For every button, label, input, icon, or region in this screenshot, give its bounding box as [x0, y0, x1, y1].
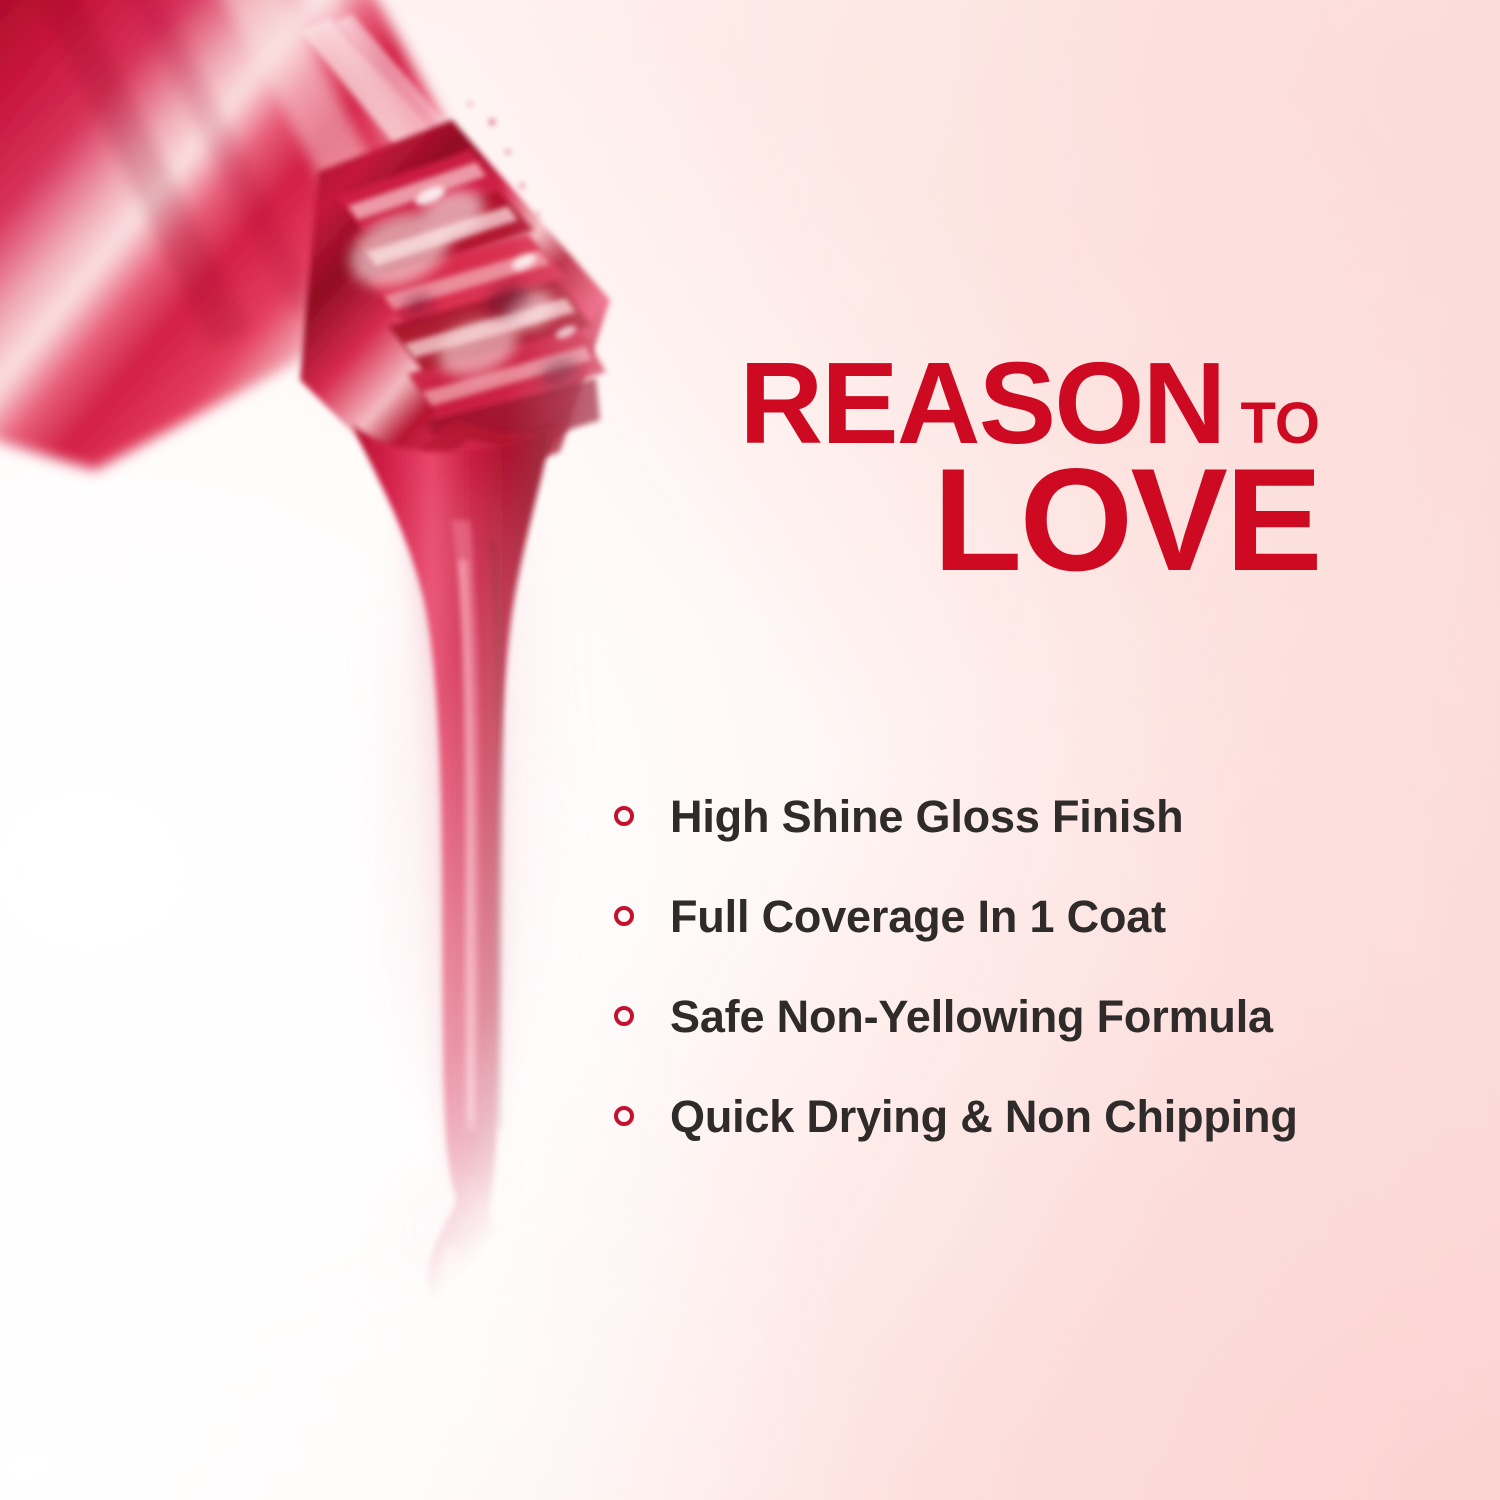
background-tint-bottom-left	[0, 0, 1500, 1500]
list-item: Safe Non-Yellowing Formula	[614, 966, 1414, 1066]
circle-outline-icon	[614, 1006, 634, 1026]
headline-line-2: LOVE	[700, 456, 1320, 584]
feature-list: High Shine Gloss Finish Full Coverage In…	[614, 766, 1414, 1166]
list-item: Full Coverage In 1 Coat	[614, 866, 1414, 966]
headline: REASONTO LOVE	[700, 352, 1320, 585]
product-feature-banner: REASONTO LOVE High Shine Gloss Finish Fu…	[0, 0, 1500, 1500]
feature-label: High Shine Gloss Finish	[670, 794, 1183, 839]
circle-outline-icon	[614, 1106, 634, 1126]
circle-outline-icon	[614, 906, 634, 926]
feature-label: Safe Non-Yellowing Formula	[670, 994, 1273, 1039]
list-item: Quick Drying & Non Chipping	[614, 1066, 1414, 1166]
feature-label: Quick Drying & Non Chipping	[670, 1094, 1298, 1139]
feature-label: Full Coverage In 1 Coat	[670, 894, 1166, 939]
list-item: High Shine Gloss Finish	[614, 766, 1414, 866]
circle-outline-icon	[614, 806, 634, 826]
